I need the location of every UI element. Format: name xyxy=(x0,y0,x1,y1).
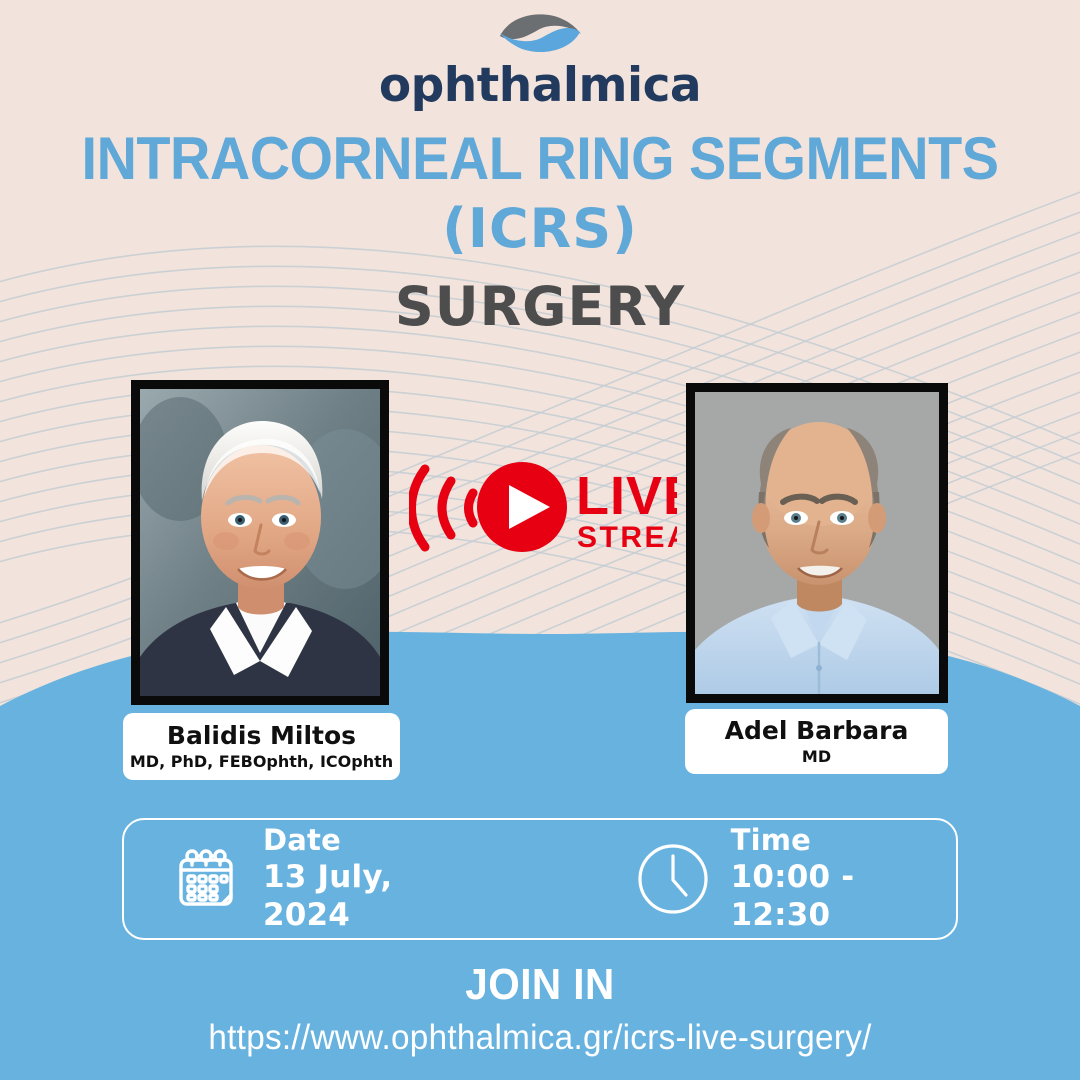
live-stream-badge: LIVE STREAM xyxy=(409,455,677,560)
event-url[interactable]: https://www.ophthalmica.gr/icrs-live-sur… xyxy=(27,1018,1053,1058)
date-value: 13 July, 2024 xyxy=(263,859,482,933)
event-info-bar: Date 13 July, 2024 Time 10:00 - 12:30 xyxy=(122,818,958,940)
portrait-image-right xyxy=(695,392,939,694)
portrait-image-left xyxy=(140,389,380,696)
photo-inner xyxy=(140,389,380,696)
time-label: Time xyxy=(731,824,956,857)
join-in-heading: JOIN IN xyxy=(43,960,1037,1010)
brand-wordmark: ophthalmica xyxy=(0,62,1080,109)
info-cell-time: Time 10:00 - 12:30 xyxy=(636,824,956,934)
speaker-nameplate-1: Balidis Miltos MD, PhD, FEBOphth, ICOpht… xyxy=(123,713,400,780)
clock-icon xyxy=(636,842,710,916)
date-text-group: Date 13 July, 2024 xyxy=(263,824,482,934)
brand-logo: ophthalmica xyxy=(0,6,1080,109)
speaker-name: Balidis Miltos xyxy=(123,722,400,750)
event-poster: ophthalmica INTRACORNEAL RING SEGMENTS (… xyxy=(0,0,1080,1080)
title-line-main: INTRACORNEAL RING SEGMENTS xyxy=(38,128,1042,189)
broadcast-waves-icon xyxy=(412,469,474,547)
time-text-group: Time 10:00 - 12:30 xyxy=(731,824,956,934)
speaker-photo-adel-barbara xyxy=(686,383,948,703)
title-line-surgery: SURGERY xyxy=(0,272,1080,342)
time-value: 10:00 - 12:30 xyxy=(731,859,956,933)
photo-inner xyxy=(695,392,939,694)
eye-logo-icon xyxy=(488,6,592,60)
speaker-credentials: MD, PhD, FEBOphth, ICOphth xyxy=(123,753,400,771)
headline-group: INTRACORNEAL RING SEGMENTS (ICRS) SURGER… xyxy=(0,128,1080,342)
live-label: LIVE xyxy=(576,466,677,526)
speaker-credentials: MD xyxy=(685,748,948,766)
stream-label: STREAM xyxy=(577,521,677,554)
speaker-nameplate-2: Adel Barbara MD xyxy=(685,709,948,774)
date-label: Date xyxy=(263,824,482,857)
calendar-icon xyxy=(170,843,242,915)
info-cell-date: Date 13 July, 2024 xyxy=(170,824,482,934)
speaker-name: Adel Barbara xyxy=(685,717,948,745)
speaker-photo-balidis-miltos xyxy=(131,380,389,705)
title-line-abbreviation: (ICRS) xyxy=(0,193,1080,266)
